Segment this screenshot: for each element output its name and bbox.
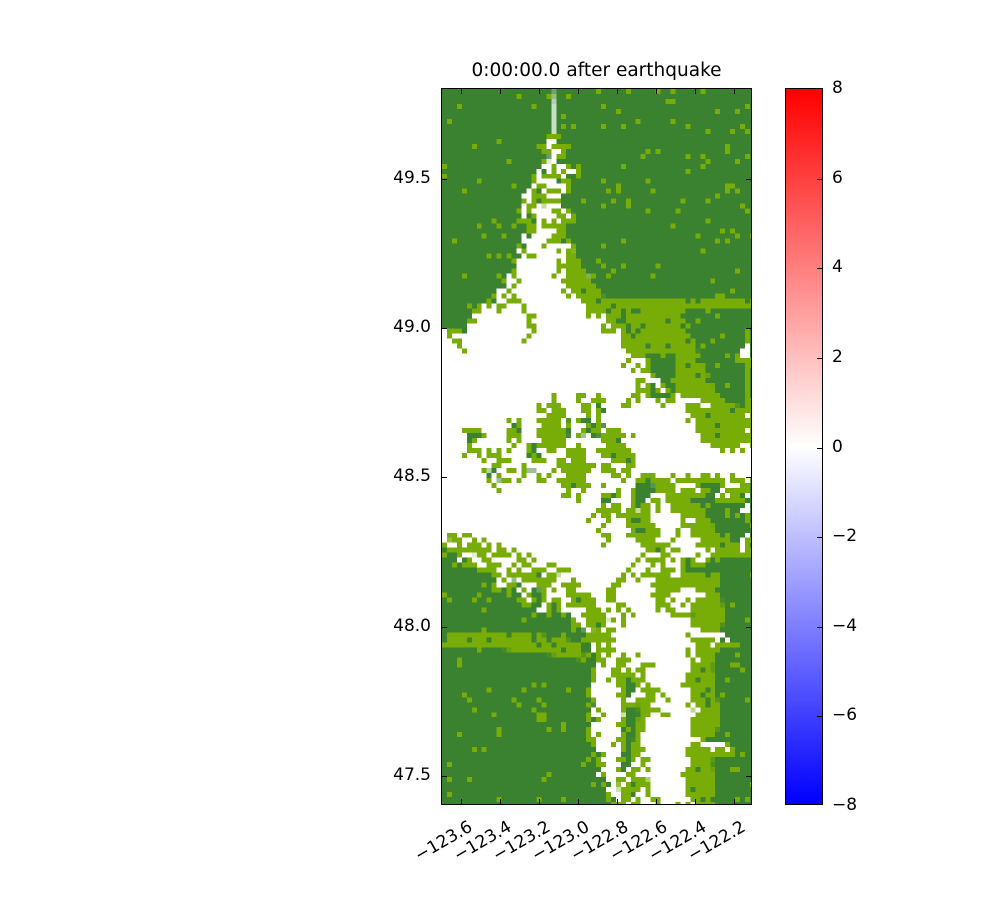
y-tick-label: 48.5 xyxy=(393,466,431,486)
x-tick-mark xyxy=(734,799,735,804)
x-tick-mark-top xyxy=(500,89,501,94)
x-tick-mark-top xyxy=(656,89,657,94)
x-tick-mark-top xyxy=(734,89,735,94)
colorbar-tick-mark xyxy=(817,268,822,269)
colorbar-tick-label: −2 xyxy=(832,526,857,546)
colorbar-tick-label: −4 xyxy=(832,616,857,636)
x-tick-mark xyxy=(695,799,696,804)
x-tick-label: −122.6 xyxy=(606,817,670,866)
colorbar-tick-label: 2 xyxy=(832,347,843,367)
y-tick-label: 49.0 xyxy=(393,317,431,337)
x-tick-label: −123.6 xyxy=(412,817,476,866)
y-tick-mark-right xyxy=(746,776,751,777)
y-tick-mark xyxy=(442,627,447,628)
y-tick-mark xyxy=(442,179,447,180)
y-tick-mark xyxy=(442,328,447,329)
x-tick-mark xyxy=(500,799,501,804)
colorbar-tick-label: 4 xyxy=(832,257,843,277)
y-tick-label: 49.5 xyxy=(393,168,431,188)
x-tick-mark-top xyxy=(461,89,462,94)
x-tick-mark-top xyxy=(617,89,618,94)
colorbar-tick-mark xyxy=(817,627,822,628)
y-tick-mark xyxy=(442,477,447,478)
x-tick-label: −122.4 xyxy=(645,817,709,866)
x-tick-label: −123.0 xyxy=(529,817,593,866)
colorbar-tick-label: −6 xyxy=(832,705,857,725)
x-tick-mark-top xyxy=(578,89,579,94)
x-tick-mark-top xyxy=(539,89,540,94)
sea-surface-elevation-map[interactable] xyxy=(441,88,752,805)
x-tick-mark xyxy=(578,799,579,804)
x-tick-label: −122.2 xyxy=(684,817,748,866)
y-tick-mark-right xyxy=(746,179,751,180)
x-tick-mark xyxy=(539,799,540,804)
page-title: 0:00:00.0 after earthquake xyxy=(441,60,752,81)
x-tick-mark xyxy=(617,799,618,804)
colorbar-tick-label: 0 xyxy=(832,437,843,457)
elevation-colorbar[interactable] xyxy=(785,88,823,805)
colorbar-tick-label: −8 xyxy=(832,795,857,815)
colorbar-tick-label: 6 xyxy=(832,168,843,188)
colorbar-tick-label: 8 xyxy=(832,78,843,98)
colorbar-tick-mark xyxy=(817,537,822,538)
x-tick-mark-top xyxy=(695,89,696,94)
x-tick-mark xyxy=(656,799,657,804)
y-tick-mark-right xyxy=(746,477,751,478)
x-tick-label: −123.2 xyxy=(490,817,554,866)
colorbar-tick-mark xyxy=(817,358,822,359)
x-tick-label: −123.4 xyxy=(451,817,515,866)
colorbar-tick-mark xyxy=(817,179,822,180)
y-tick-mark xyxy=(442,776,447,777)
matplotlib-figure: 0:00:00.0 after earthquake −123.6−123.4−… xyxy=(0,0,1000,900)
x-tick-label: −122.8 xyxy=(567,817,631,866)
y-tick-label: 48.0 xyxy=(393,616,431,636)
y-tick-mark-right xyxy=(746,328,751,329)
x-tick-mark xyxy=(461,799,462,804)
y-tick-mark-right xyxy=(746,627,751,628)
colorbar-tick-mark xyxy=(817,448,822,449)
colorbar-gradient xyxy=(786,89,822,804)
map-raster xyxy=(442,89,751,804)
y-tick-label: 47.5 xyxy=(393,765,431,785)
colorbar-tick-mark xyxy=(817,716,822,717)
